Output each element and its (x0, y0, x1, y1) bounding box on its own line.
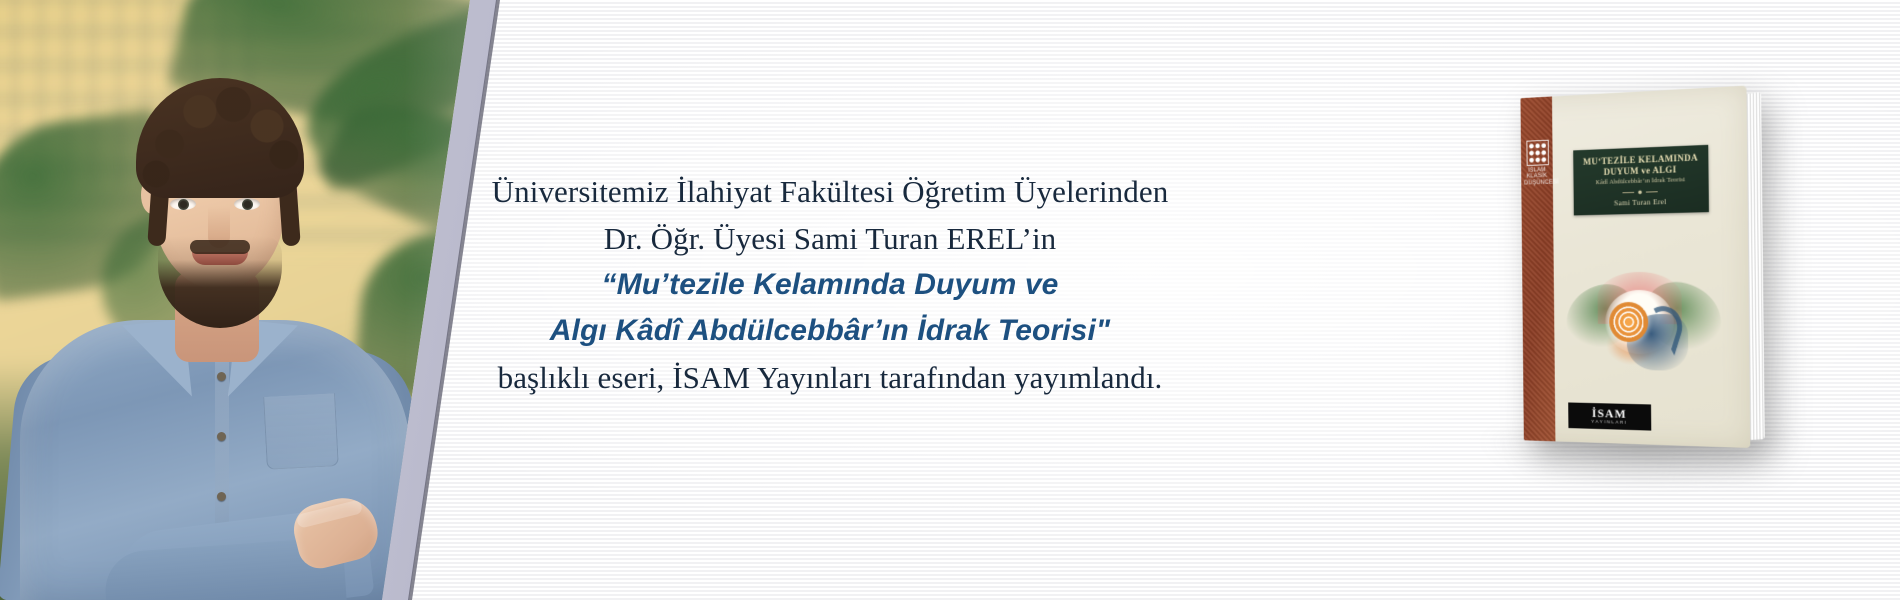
book-title-line-2: Algı Kâdî Abdülcebbâr’ın İdrak Teorisi" (470, 308, 1190, 354)
announcement-banner: Üniversitemiz İlahiyat Fakültesi Öğretim… (0, 0, 1900, 600)
book-subtitle-text: Kâdî Abdülcebbâr’ın İdrak Teorisi (1596, 176, 1686, 187)
book-spine: İSLAM KLASİK DÜŞÜNCESİ (1520, 96, 1555, 441)
book-title-line-2-text: DUYUM ve ALGI (1604, 164, 1677, 177)
headline-line-5: başlıklı eseri, İSAM Yayınları tarafında… (470, 354, 1190, 401)
publisher-name: İSAM (1592, 407, 1627, 420)
cover-artwork (1570, 249, 1714, 382)
book-cover-image: MU‘TEZİLE KELAMINDA DUYUM ve ALGI Kâdî A… (1520, 86, 1750, 448)
headline-line-1: Üniversitemiz İlahiyat Fakültesi Öğretim… (470, 168, 1190, 215)
book-title-plate: MU‘TEZİLE KELAMINDA DUYUM ve ALGI Kâdî A… (1573, 145, 1709, 216)
publisher-sub: YAYINLARI (1591, 419, 1627, 426)
book-front-cover: MU‘TEZİLE KELAMINDA DUYUM ve ALGI Kâdî A… (1520, 86, 1750, 448)
publisher-badge: İSAM YAYINLARI (1568, 402, 1651, 430)
announcement-text: Üniversitemiz İlahiyat Fakültesi Öğretim… (470, 168, 1190, 401)
diamond-ornament-icon (1622, 188, 1657, 196)
book-author-text: Sami Turan Erel (1614, 197, 1667, 207)
spine-series-text: İSLAM KLASİK DÜŞÜNCESİ (1524, 167, 1550, 187)
geometric-lattice-icon (1526, 140, 1549, 166)
book-title-line-1: “Mu’tezile Kelamında Duyum ve (470, 262, 1190, 308)
headline-line-2: Dr. Öğr. Üyesi Sami Turan EREL’in (470, 215, 1190, 262)
